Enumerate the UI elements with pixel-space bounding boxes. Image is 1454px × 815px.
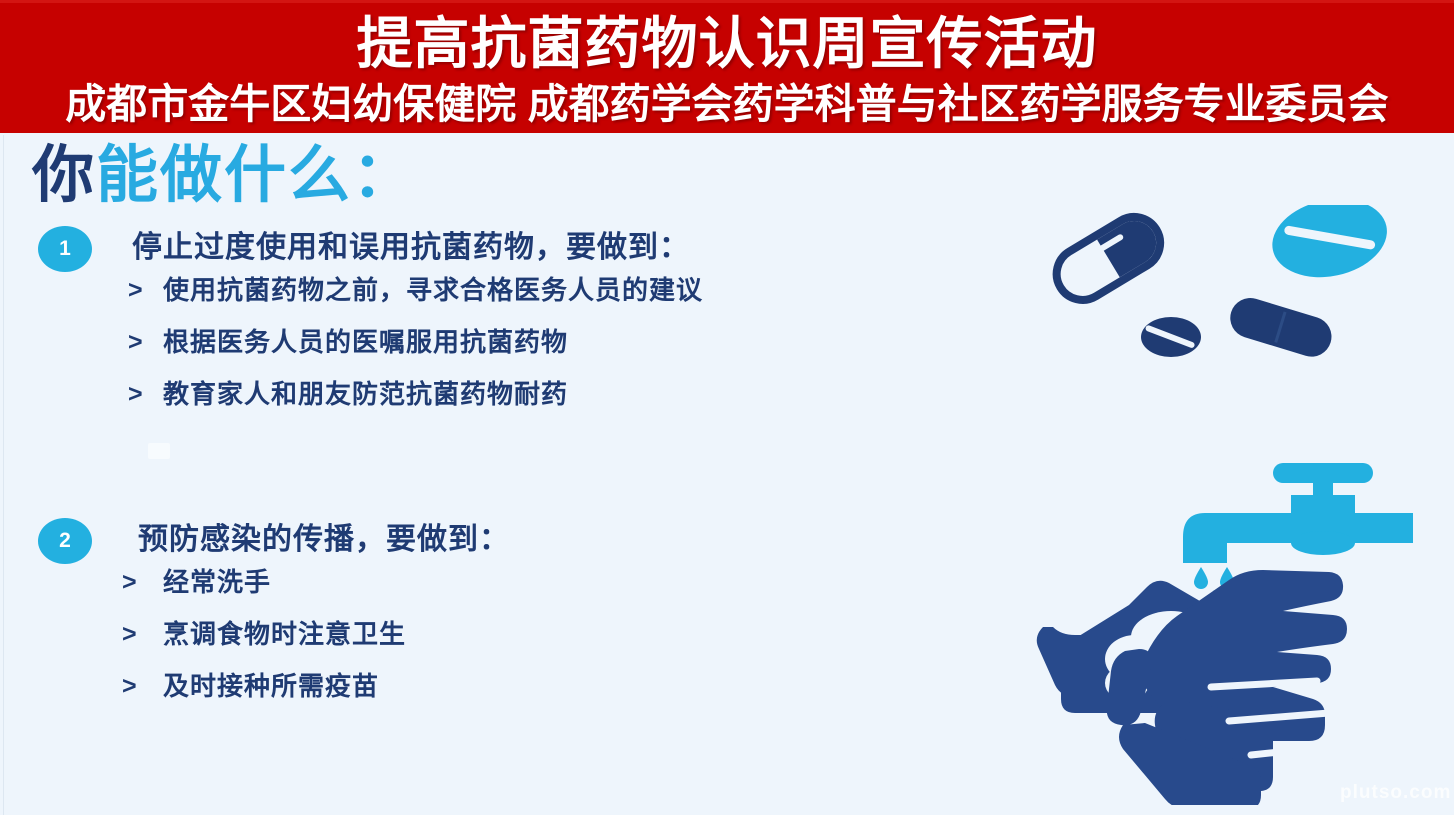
chevron-right-icon: > <box>122 564 137 600</box>
chevron-right-icon: > <box>128 324 143 360</box>
list-item-label: 使用抗菌药物之前，寻求合格医务人员的建议 <box>163 272 703 308</box>
cyan-oval-tablet <box>1265 205 1394 287</box>
header-subtitle: 成都市金牛区妇幼保健院 成都药学会药学科普与社区药学服务专业委员会 <box>0 79 1454 129</box>
faucet-icon <box>1183 463 1413 563</box>
section-1-title: 停止过度使用和误用抗菌药物，要做到： <box>132 228 690 268</box>
header-banner: 提高抗菌药物认识周宣传活动 成都市金牛区妇幼保健院 成都药学会药学科普与社区药学… <box>0 0 1454 133</box>
navy-oblong-caplet <box>1225 293 1336 362</box>
section-1-number-badge: 1 <box>38 226 92 272</box>
list-item-label: 教育家人和朋友防范抗菌药物耐药 <box>163 376 568 412</box>
chevron-right-icon: > <box>128 376 143 412</box>
page-title-cyan-part: 能做什么： <box>96 141 416 210</box>
pills-and-tablets-illustration <box>1025 205 1435 395</box>
page-title: 你能做什么： <box>32 137 416 215</box>
background-artifact <box>148 443 170 459</box>
section-2-number-badge: 2 <box>38 518 92 564</box>
chevron-right-icon: > <box>128 272 143 308</box>
watermark-label: plutso.com <box>1340 782 1451 804</box>
list-item-label: 根据医务人员的医嘱服用抗菌药物 <box>163 324 568 360</box>
slide-canvas: 提高抗菌药物认识周宣传活动 成都市金牛区妇幼保健院 成都药学会药学科普与社区药学… <box>0 0 1454 815</box>
navy-round-tablet <box>1141 317 1201 357</box>
handwashing-under-faucet-illustration <box>1015 455 1445 805</box>
header-title: 提高抗菌药物认识周宣传活动 <box>0 9 1454 79</box>
chevron-right-icon: > <box>122 616 137 652</box>
chevron-right-icon: > <box>122 668 137 704</box>
page-title-dark-part: 你 <box>32 141 96 210</box>
list-item-label: 经常洗手 <box>163 564 271 600</box>
left-edge-rule <box>3 135 4 815</box>
list-item-label: 及时接种所需疫苗 <box>163 668 379 704</box>
list-item-label: 烹调食物时注意卫生 <box>163 616 406 652</box>
section-2-title: 预防感染的传播，要做到： <box>138 520 510 560</box>
navy-capsule-outline <box>1047 207 1170 309</box>
